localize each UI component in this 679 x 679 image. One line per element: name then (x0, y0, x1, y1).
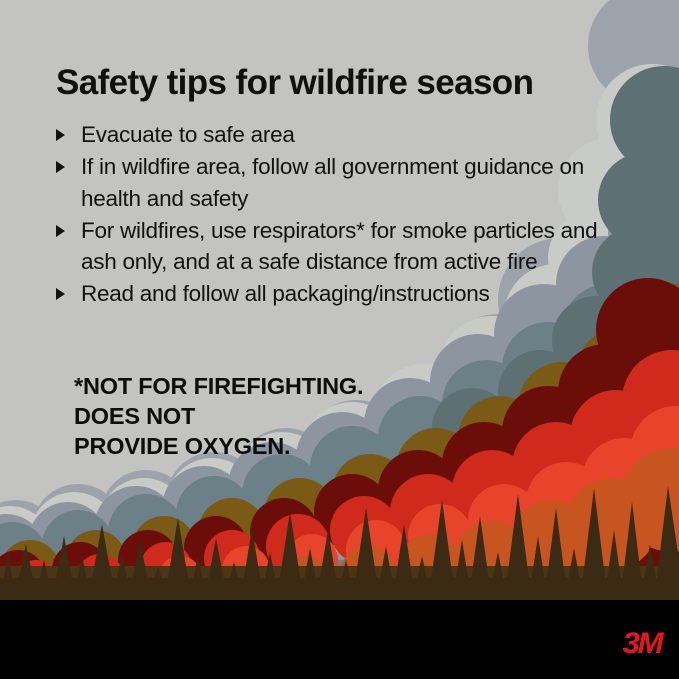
3m-logo: 3M (622, 629, 661, 659)
wildfire-safety-poster: Safety tips for wildfire season Evacuate… (0, 0, 679, 679)
footer-bar: 3M (0, 600, 679, 679)
wildfire-smoke-illustration (0, 0, 679, 679)
